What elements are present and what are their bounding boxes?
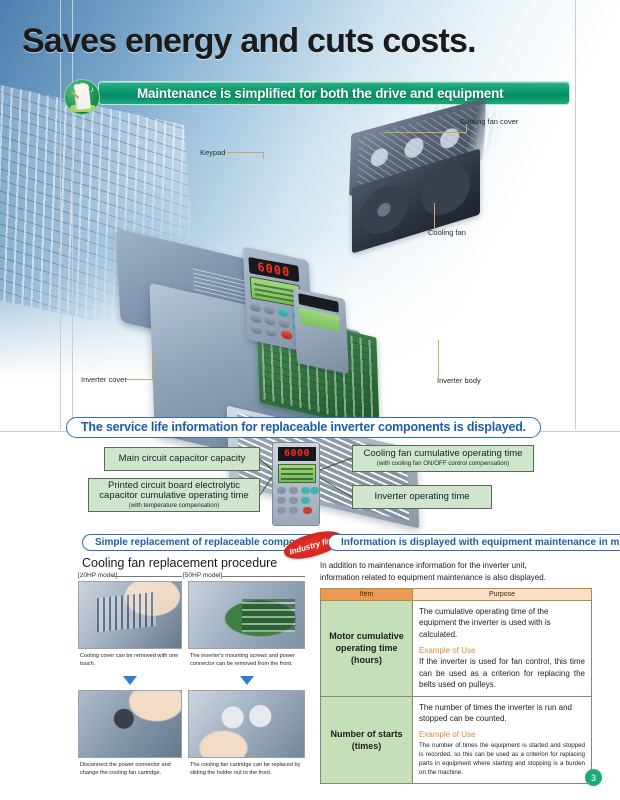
service-life-banner: The service life information for replace… bbox=[66, 417, 541, 438]
info-intro-line2: information related to equipment mainten… bbox=[320, 573, 546, 582]
table-header-row: Item Purpose bbox=[321, 589, 592, 601]
info-intro-line1: In addition to maintenance information f… bbox=[320, 561, 527, 570]
photo-2-image bbox=[189, 582, 304, 648]
row-1-item-line3: (hours) bbox=[351, 655, 382, 665]
callout-keypad-lcd bbox=[278, 464, 316, 483]
procedure-caption-1: Cooling cover can be removed with one to… bbox=[78, 651, 182, 669]
brochure-page: Saves energy and cuts costs. Maintenance… bbox=[0, 0, 620, 800]
model-rule-left bbox=[112, 576, 182, 577]
procedure-caption-2: The inverter's mounting screws and power… bbox=[188, 651, 305, 669]
page-number-badge: 3 bbox=[585, 769, 602, 786]
leader-line-keypad bbox=[224, 152, 264, 153]
section-header-right: Information is displayed with equipment … bbox=[328, 534, 620, 551]
page-title: Saves energy and cuts costs. bbox=[22, 22, 476, 61]
photo-3-image bbox=[79, 691, 181, 757]
row-2-example-text: The number of times the equipment is sta… bbox=[419, 741, 585, 778]
photo-1-image bbox=[79, 582, 181, 648]
leader-line-keypad-v bbox=[263, 152, 264, 159]
engineer-mascot-icon: ♪ bbox=[64, 79, 100, 115]
row-1-example-label: Example of Use bbox=[419, 645, 585, 656]
row-1-purpose: The cumulative operating time of the equ… bbox=[413, 601, 592, 697]
callout-fan-line1: Cooling fan cumulative operating time bbox=[364, 449, 523, 460]
callout-main-capacitor: Main circuit capacitor capacity bbox=[104, 447, 260, 471]
model-rule-right bbox=[222, 576, 305, 577]
row-2-purpose-main: The number of times the inverter is run … bbox=[419, 702, 585, 725]
callout-cooling-fan-time: Cooling fan cumulative operating time (w… bbox=[352, 445, 534, 472]
label-cooling-fan-cover: Cooling fan cover bbox=[460, 117, 518, 126]
info-intro: In addition to maintenance information f… bbox=[320, 560, 595, 584]
row-2-item-line1: Number of starts bbox=[330, 729, 402, 739]
row-1-item: Motor cumulative operating time (hours) bbox=[321, 601, 413, 697]
callout-keypad-keys bbox=[277, 487, 317, 519]
procedure-caption-4: The cooling fan cartridge can be replace… bbox=[188, 760, 305, 778]
callout-fan-note: (with cooling fan ON/OFF control compens… bbox=[377, 460, 509, 467]
table-row: Number of starts (times) The number of t… bbox=[321, 696, 592, 783]
row-1-purpose-main: The cumulative operating time of the equ… bbox=[419, 606, 585, 640]
table-header-item: Item bbox=[321, 589, 413, 601]
callout-main-capacitor-label: Main circuit capacitor capacity bbox=[119, 454, 246, 465]
label-cooling-fan: Cooling fan bbox=[428, 228, 466, 237]
secondary-keypad-part bbox=[293, 288, 349, 374]
maintenance-banner: Maintenance is simplified for both the d… bbox=[64, 79, 570, 107]
callout-pcb-capacitor: Printed circuit board electrolytic capac… bbox=[88, 478, 260, 512]
procedure-arrow-2 bbox=[240, 676, 254, 685]
callout-keypad: 6000 bbox=[272, 442, 320, 526]
label-inverter-body: Inverter body bbox=[437, 376, 481, 385]
row-2-example-label: Example of Use bbox=[419, 729, 585, 740]
callout-inverter-time: Inverter operating time bbox=[352, 485, 492, 509]
row-2-purpose: The number of times the inverter is run … bbox=[413, 696, 592, 783]
procedure-photo-4 bbox=[188, 690, 305, 758]
procedure-title: Cooling fan replacement procedure bbox=[82, 556, 277, 570]
label-inverter-cover: Inverter cover bbox=[81, 375, 127, 384]
leader-line-inverter-body bbox=[438, 340, 439, 378]
photo-4-image bbox=[189, 691, 304, 757]
callout-inverter-time-label: Inverter operating time bbox=[374, 492, 469, 503]
mascot-head bbox=[77, 83, 89, 92]
row-2-item: Number of starts (times) bbox=[321, 696, 413, 783]
procedure-photo-2 bbox=[188, 581, 305, 649]
row-1-item-line2: operating time bbox=[335, 643, 397, 653]
callout-diagram: 6000 Main circuit capacitor capacity Pri… bbox=[0, 440, 620, 530]
procedure-photo-3 bbox=[78, 690, 182, 758]
row-1-example-text: If the inverter is used for fan control,… bbox=[419, 656, 585, 690]
banner-label: Maintenance is simplified for both the d… bbox=[137, 86, 503, 101]
banner-bar: Maintenance is simplified for both the d… bbox=[98, 81, 570, 105]
label-keypad: Keypad bbox=[200, 148, 225, 157]
callout-keypad-led: 6000 bbox=[278, 447, 316, 461]
procedure-photo-1 bbox=[78, 581, 182, 649]
leader-line-fan-cover bbox=[383, 132, 467, 133]
procedure-arrow-1 bbox=[123, 676, 137, 685]
table-header-purpose: Purpose bbox=[413, 589, 592, 601]
leader-line-inverter-cover-v bbox=[152, 352, 153, 380]
procedure-caption-3: Disconnect the power connector and chang… bbox=[78, 760, 182, 778]
callout-pcb-note: (with temperature compensation) bbox=[129, 502, 219, 509]
model-tag-right: [50HP model] bbox=[183, 572, 222, 579]
table-row: Motor cumulative operating time (hours) … bbox=[321, 601, 592, 697]
row-2-item-line2: (times) bbox=[352, 741, 382, 751]
leader-line-inverter-cover bbox=[125, 379, 153, 380]
row-1-item-line1: Motor cumulative bbox=[329, 631, 404, 641]
callout-pcb-line2: capacitor cumulative operating time bbox=[99, 491, 248, 502]
maintenance-info-table: Item Purpose Motor cumulative operating … bbox=[320, 588, 592, 784]
mascot-note-icon: ♪ bbox=[90, 85, 94, 94]
leader-line-cooling-fan bbox=[434, 203, 435, 228]
